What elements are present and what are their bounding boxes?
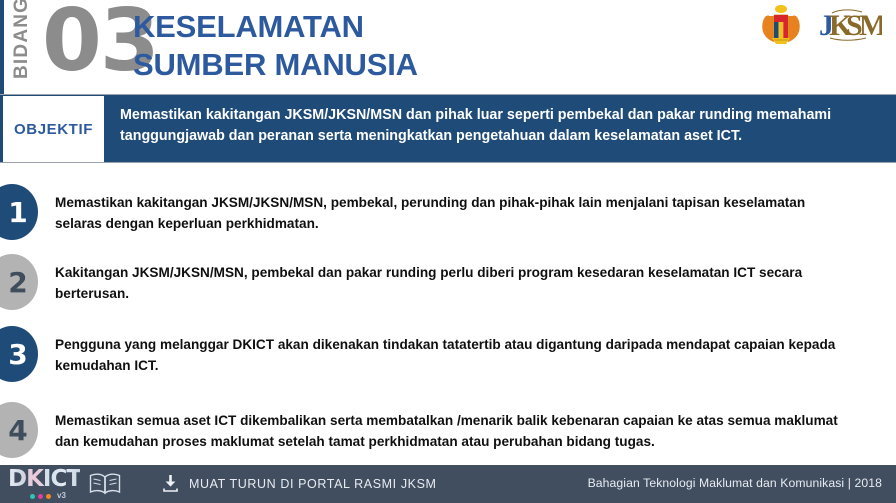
list-item-badge: 3 (0, 326, 38, 382)
header-left-accent-bar (0, 0, 4, 94)
list-item-text: Memastikan semua aset ICT dikembalikan s… (55, 410, 855, 452)
dkict-dot-3 (46, 494, 51, 499)
header-logos: J K S M (758, 4, 882, 46)
list-item-badge: 4 (0, 402, 38, 458)
list-item-badge: 1 (0, 184, 38, 240)
bidang-label: BIDANG (11, 1, 33, 79)
slide-root: BIDANG 03 KESELAMATAN SUMBER MANUSIA (0, 0, 896, 503)
jata-negara-logo-icon (758, 4, 804, 46)
download-label: MUAT TURUN DI PORTAL RASMI JKSM (189, 477, 437, 491)
download-icon (163, 475, 178, 492)
dkict-dot-1 (30, 494, 35, 499)
page-title-line-1: KESELAMATAN (133, 8, 418, 46)
footer-credit-text: Bahagian Teknologi Maklumat dan Komunika… (588, 476, 882, 490)
open-book-icon (88, 472, 122, 496)
list-item-badge: 2 (0, 254, 38, 310)
page-title: KESELAMATAN SUMBER MANUSIA (133, 8, 418, 84)
dkict-logo-dots: v3 (30, 492, 66, 500)
list-item-text: Memastikan kakitangan JKSM/JKSN/MSN, pem… (55, 192, 855, 234)
objective-label-box: OBJEKTIF (3, 96, 104, 162)
list-item-text: Kakitangan JKSM/JKSN/MSN, pembekal dan p… (55, 262, 855, 304)
download-link[interactable]: MUAT TURUN DI PORTAL RASMI JKSM (163, 475, 437, 492)
list-item-text: Pengguna yang melanggar DKICT akan diken… (55, 334, 855, 376)
svg-text:M: M (859, 9, 882, 42)
dkict-dot-2 (38, 494, 43, 499)
slide-header: BIDANG 03 KESELAMATAN SUMBER MANUSIA (0, 0, 896, 95)
dkict-version-label: v3 (57, 492, 66, 500)
objective-label: OBJEKTIF (14, 121, 93, 138)
dkict-logo[interactable]: DKICT v3 (8, 468, 80, 500)
objective-band: OBJEKTIF Memastikan kakitangan JKSM/JKSN… (0, 95, 896, 163)
jksm-logo-icon: J K S M (818, 5, 882, 45)
page-title-line-2: SUMBER MANUSIA (133, 46, 418, 84)
dkict-logo-text: DKICT (8, 468, 80, 491)
slide-footer: DKICT v3 MUAT TURUN DI PORTAL RASMI JKSM (0, 465, 896, 503)
objective-text: Memastikan kakitangan JKSM/JKSN/MSN dan … (120, 105, 880, 147)
